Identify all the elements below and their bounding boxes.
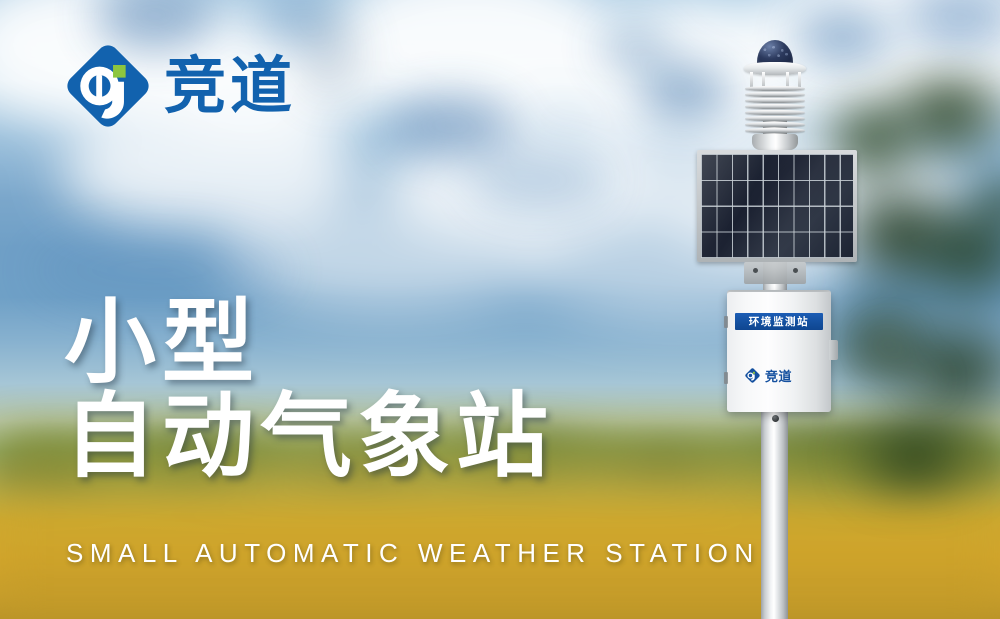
headline-line-2: 自动气象站 [64, 390, 554, 484]
enclosure-brand-label: 竞道 [765, 366, 792, 385]
enclosure-banner: 环境监测站 [735, 313, 823, 330]
product-banner: 环境监测站 竞道 竞道 小 [0, 0, 1000, 619]
jingdao-diamond-logo-icon [66, 44, 150, 128]
panel-mount-bracket-icon [744, 262, 806, 284]
solar-panel-gloss [701, 154, 853, 258]
enclosure-vent-icon [724, 316, 728, 328]
enclosure-brand-logo: 竞道 [744, 366, 792, 385]
brand-name: 竞道 [164, 55, 296, 117]
radiation-shield-base-icon [752, 134, 798, 150]
enclosure-vent-icon [724, 372, 728, 384]
radiation-shield-icon [745, 86, 805, 136]
pole-bolt-icon [772, 415, 779, 422]
jingdao-diamond-logo-icon [744, 367, 761, 384]
solar-panel-cells [701, 154, 853, 258]
control-enclosure [727, 292, 831, 412]
bracket-bolt-icon [753, 268, 758, 273]
headline-line-1: 小型 [64, 296, 554, 390]
sensor-top-disc-icon [744, 62, 806, 75]
solar-panel-icon [697, 150, 857, 262]
subtitle-text: SMALL AUTOMATIC WEATHER STATION [66, 538, 760, 569]
enclosure-side-tab [829, 340, 838, 360]
bracket-bolt-icon [793, 268, 798, 273]
brand-logo: 竞道 [66, 44, 296, 128]
enclosure-banner-label: 环境监测站 [749, 314, 810, 329]
mounting-pole-lower-icon [761, 410, 788, 619]
headline-block: 小型 自动气象站 [64, 296, 554, 484]
